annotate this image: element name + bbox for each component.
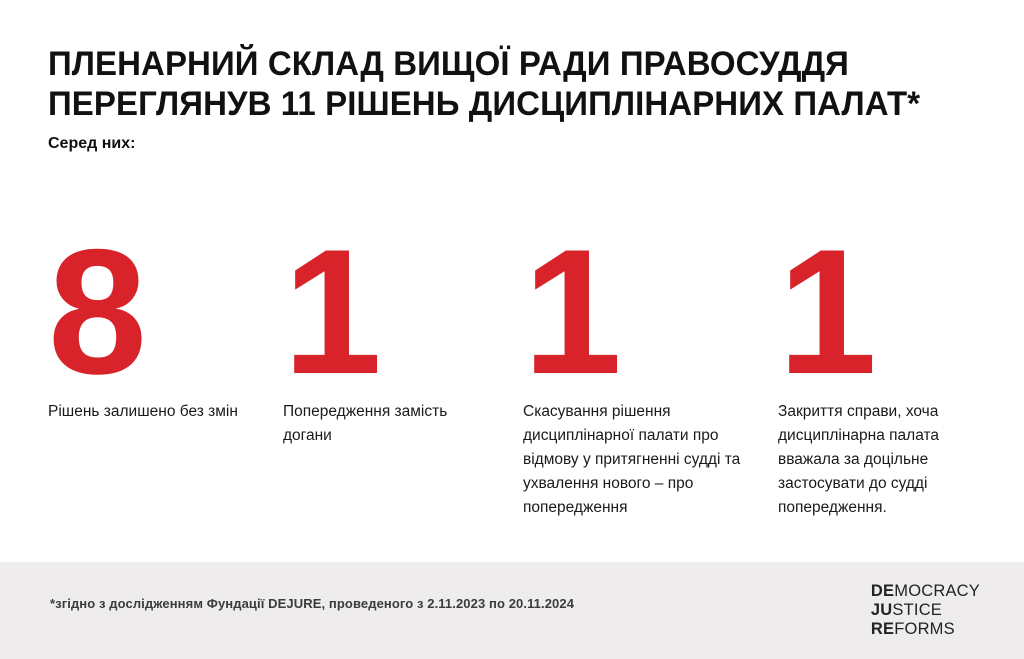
logo-lead-de: DE bbox=[871, 582, 894, 600]
headline-block: ПЛЕНАРНИЙ СКЛАД ВИЩОЇ РАДИ ПРАВОСУДДЯ ПЕ… bbox=[48, 44, 968, 154]
stat-card-1: 8 Рішень залишено без змін bbox=[48, 242, 258, 424]
stat-caption-1: Рішень залишено без змін bbox=[48, 400, 258, 424]
stat-value-4: 1 bbox=[778, 242, 993, 382]
stat-card-2: 1 Попередження замість догани bbox=[283, 242, 498, 448]
stat-value-1: 8 bbox=[48, 242, 258, 382]
logo-line-reforms: REFORMS bbox=[871, 620, 980, 639]
logo-rest-mocracy: MOCRACY bbox=[894, 582, 980, 600]
stat-card-3: 1 Скасування рішення дисциплінарної пала… bbox=[523, 242, 748, 520]
stat-value-3: 1 bbox=[523, 242, 748, 382]
stat-caption-3: Скасування рішення дисциплінарної палати… bbox=[523, 400, 748, 520]
logo-rest-stice: STICE bbox=[892, 601, 942, 619]
stats-row: 8 Рішень залишено без змін 1 Попередженн… bbox=[0, 242, 1024, 542]
stat-caption-4: Закриття справи, хоча дисциплінарна пала… bbox=[778, 400, 993, 520]
footer-band: *згідно з дослідженням Фундації DEJURE, … bbox=[0, 562, 1024, 659]
logo-line-justice: JUSTICE bbox=[871, 601, 980, 620]
logo-lead-ju: JU bbox=[871, 601, 893, 619]
stat-value-2: 1 bbox=[283, 242, 498, 382]
stat-card-4: 1 Закриття справи, хоча дисциплінарна па… bbox=[778, 242, 993, 520]
logo-rest-forms: FORMS bbox=[894, 620, 955, 638]
infographic-page: ПЛЕНАРНИЙ СКЛАД ВИЩОЇ РАДИ ПРАВОСУДДЯ ПЕ… bbox=[0, 0, 1024, 659]
stat-caption-2: Попередження замість догани bbox=[283, 400, 498, 448]
page-title: ПЛЕНАРНИЙ СКЛАД ВИЩОЇ РАДИ ПРАВОСУДДЯ ПЕ… bbox=[48, 44, 940, 124]
logo-lead-re: RE bbox=[871, 620, 894, 638]
source-footnote: *згідно з дослідженням Фундації DEJURE, … bbox=[50, 595, 574, 613]
subheading: Серед них: bbox=[48, 134, 968, 154]
dejure-logo: DEMOCRACY JUSTICE REFORMS bbox=[871, 582, 980, 639]
logo-line-democracy: DEMOCRACY bbox=[871, 582, 980, 601]
